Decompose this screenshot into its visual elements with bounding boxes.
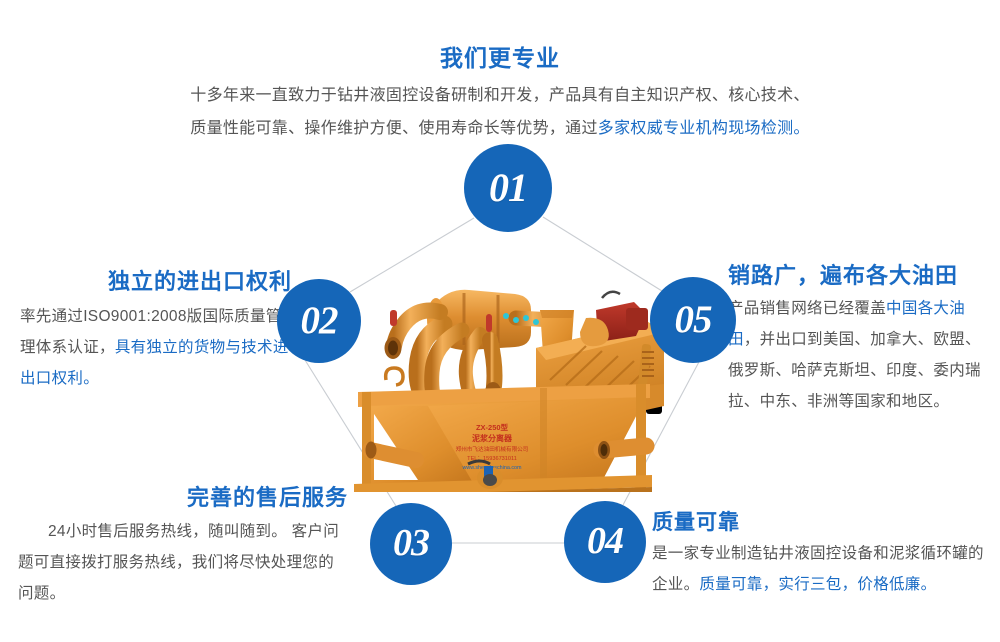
- feature-block-02: 独立的进出口权利 率先通过ISO9001:2008版国际质量管理体系认证，具有独…: [20, 268, 292, 394]
- feature-01-body-line2-highlight: 多家权威专业机构现场检测。: [598, 120, 810, 137]
- step-badge-04[interactable]: 04: [564, 501, 646, 583]
- svg-text:ZX-250型: ZX-250型: [476, 422, 509, 432]
- step-badge-01[interactable]: 01: [464, 144, 552, 232]
- feature-01-heading: 我们更专业: [150, 44, 850, 73]
- feature-block-03: 完善的售后服务 24小时售后服务热线，随叫随到。 客户问题可直接拨打服务热线，我…: [18, 484, 348, 609]
- svg-text:泥浆分离器: 泥浆分离器: [472, 433, 513, 443]
- machine-frame-hopper: ZX-250型 泥浆分离器 郑州市飞达油田机械有限公司 TEL：15936731…: [354, 368, 652, 492]
- feature-block-01: 我们更专业 十多年来一直致力于钻井液固控设备研制和开发，产品具有自主知识产权、核…: [150, 44, 850, 145]
- svg-text:郑州市飞达油田机械有限公司: 郑州市飞达油田机械有限公司: [456, 445, 529, 453]
- feature-01-body-line1: 十多年来一直致力于钻井液固控设备研制和开发，产品具有自主知识产权、核心技术、: [150, 79, 850, 112]
- feature-04-body-highlight: 质量可靠，实行三包，价格低廉。: [699, 576, 936, 593]
- advantages-infographic: ZX-250型 泥浆分离器 郑州市飞达油田机械有限公司 TEL：15936731…: [0, 0, 1000, 642]
- step-badge-05-label: 05: [675, 297, 712, 342]
- feature-02-heading: 独立的进出口权利: [20, 268, 292, 296]
- feature-05-body-plain-a: 产品销售网络已经覆盖: [728, 300, 886, 317]
- feature-04-body: 是一家专业制造钻井液固控设备和泥浆循环罐的企业。质量可靠，实行三包，价格低廉。: [652, 538, 992, 600]
- step-badge-04-label: 04: [587, 519, 623, 563]
- feature-block-04: 质量可靠 是一家专业制造钻井液固控设备和泥浆循环罐的企业。质量可靠，实行三包，价…: [652, 510, 992, 600]
- step-badge-01-label: 01: [489, 164, 527, 211]
- feature-04-heading: 质量可靠: [652, 510, 992, 536]
- step-badge-02[interactable]: 02: [277, 279, 361, 363]
- feature-05-body-plain-b: ，并出口到美国、加拿大、欧盟、俄罗斯、哈萨克斯坦、印度、委内瑞拉、中东、非洲等国…: [728, 331, 981, 410]
- feature-03-body: 24小时售后服务热线，随叫随到。 客户问题可直接拨打服务热线，我们将尽快处理您的…: [18, 516, 348, 609]
- feature-block-05: 销路广，遍布各大油田 产品销售网络已经覆盖中国各大油田，并出口到美国、加拿大、欧…: [728, 262, 990, 417]
- feature-02-body: 率先通过ISO9001:2008版国际质量管理体系认证，具有独立的货物与技术进出…: [20, 301, 292, 394]
- feature-01-body-line2: 质量性能可靠、操作维护方便、使用寿命长等优势，通过多家权威专业机构现场检测。: [150, 112, 850, 145]
- product-photo-mud-separator: ZX-250型 泥浆分离器 郑州市飞达油田机械有限公司 TEL：15936731…: [340, 252, 664, 492]
- step-badge-03-label: 03: [393, 521, 429, 565]
- step-badge-03[interactable]: 03: [370, 503, 452, 585]
- feature-05-body: 产品销售网络已经覆盖中国各大油田，并出口到美国、加拿大、欧盟、俄罗斯、哈萨克斯坦…: [728, 293, 990, 417]
- feature-05-heading: 销路广，遍布各大油田: [728, 262, 990, 290]
- step-badge-05[interactable]: 05: [650, 277, 736, 363]
- feature-01-body: 十多年来一直致力于钻井液固控设备研制和开发，产品具有自主知识产权、核心技术、 质…: [150, 79, 850, 145]
- feature-03-heading: 完善的售后服务: [18, 484, 348, 512]
- step-badge-02-label: 02: [301, 298, 338, 343]
- feature-01-body-line2-plain: 质量性能可靠、操作维护方便、使用寿命长等优势，通过: [190, 120, 598, 137]
